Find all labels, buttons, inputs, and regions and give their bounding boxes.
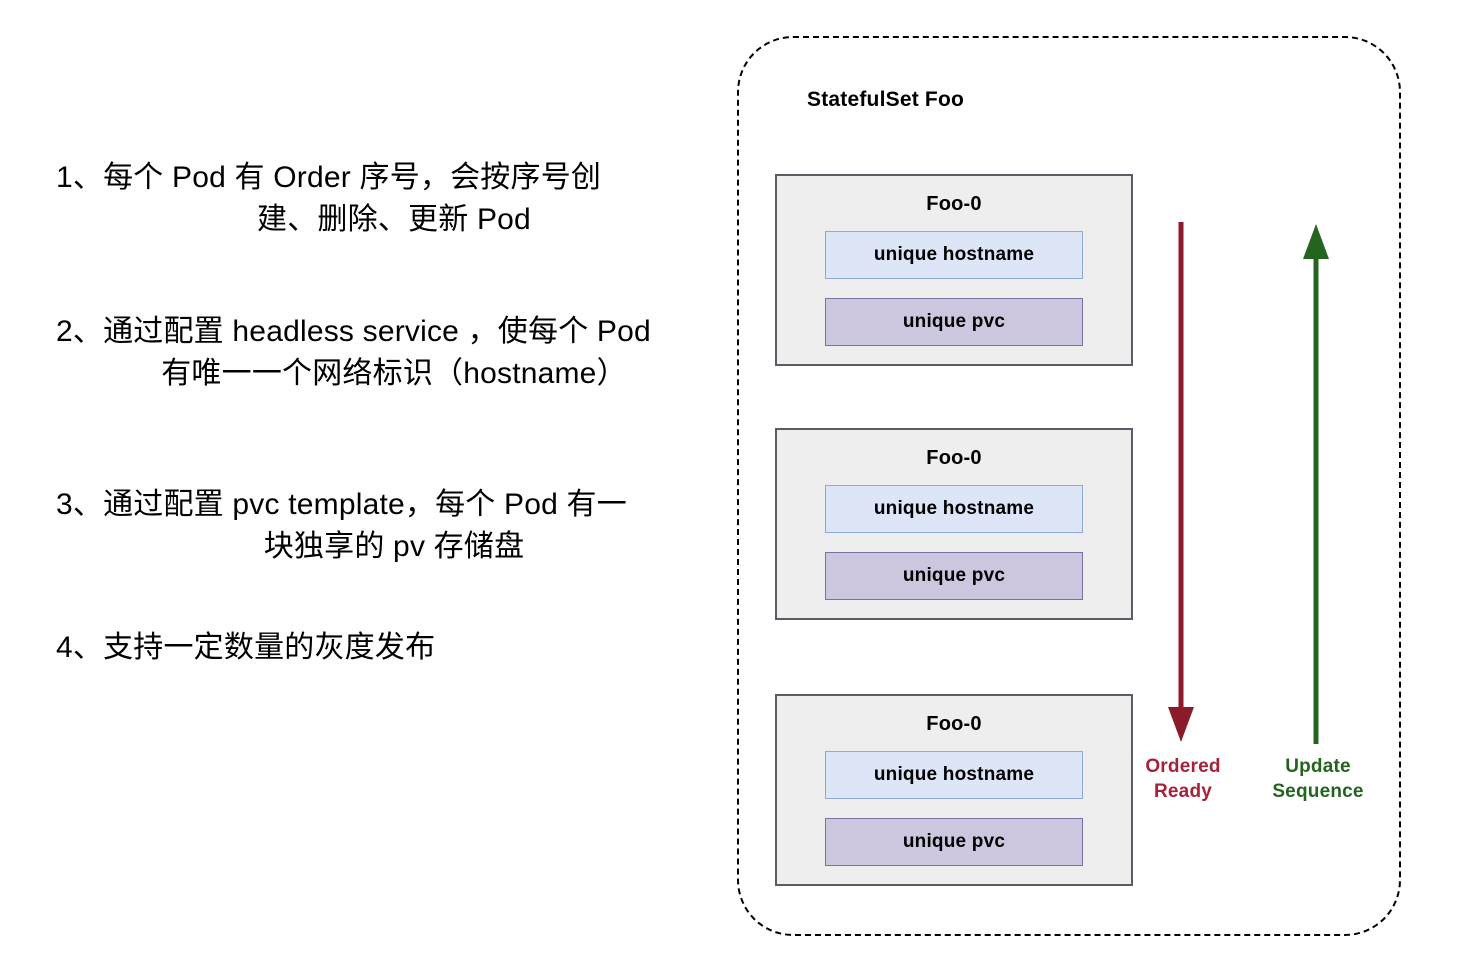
feature-line-secondary: 有唯一一个网络标识（hostname） xyxy=(56,353,732,395)
feature-line-secondary: 建、删除、更新 Pod xyxy=(56,199,732,241)
feature-line-primary: 2、通过配置 headless service ，使每个 Pod xyxy=(56,311,732,353)
statefulset-title: StatefulSet Foo xyxy=(807,88,964,112)
feature-list-item: 4、支持一定数量的灰度发布 xyxy=(56,627,732,669)
pod-hostname-box: unique hostname xyxy=(825,231,1083,279)
pod-box: Foo-0 unique hostname unique pvc xyxy=(775,428,1133,620)
pod-hostname-box: unique hostname xyxy=(825,751,1083,799)
ordered-ready-arrow-icon xyxy=(1160,222,1206,744)
pod-pvc-box: unique pvc xyxy=(825,298,1083,346)
pod-hostname-box: unique hostname xyxy=(825,485,1083,533)
feature-list-item: 1、每个 Pod 有 Order 序号，会按序号创 建、删除、更新 Pod xyxy=(56,157,732,241)
feature-list-item: 2、通过配置 headless service ，使每个 Pod 有唯一一个网络… xyxy=(56,311,732,395)
feature-line-secondary: 块独享的 pv 存储盘 xyxy=(56,526,732,568)
feature-line-primary: 1、每个 Pod 有 Order 序号，会按序号创 xyxy=(56,157,732,199)
pod-name-label: Foo-0 xyxy=(777,193,1131,216)
pod-name-label: Foo-0 xyxy=(777,713,1131,736)
pod-pvc-box: unique pvc xyxy=(825,552,1083,600)
pod-pvc-box: unique pvc xyxy=(825,818,1083,866)
pod-box: Foo-0 unique hostname unique pvc xyxy=(775,694,1133,886)
feature-list-item: 3、通过配置 pvc template，每个 Pod 有一 块独享的 pv 存储… xyxy=(56,484,732,568)
pod-box: Foo-0 unique hostname unique pvc xyxy=(775,174,1133,366)
update-sequence-arrow-icon xyxy=(1295,222,1341,744)
ordered-ready-label: Ordered Ready xyxy=(1108,755,1258,804)
feature-line-primary: 4、支持一定数量的灰度发布 xyxy=(56,627,732,669)
pod-name-label: Foo-0 xyxy=(777,447,1131,470)
feature-line-primary: 3、通过配置 pvc template，每个 Pod 有一 xyxy=(56,484,732,526)
update-sequence-label: Update Sequence xyxy=(1243,755,1393,804)
feature-list: 1、每个 Pod 有 Order 序号，会按序号创 建、删除、更新 Pod 2、… xyxy=(0,0,730,962)
